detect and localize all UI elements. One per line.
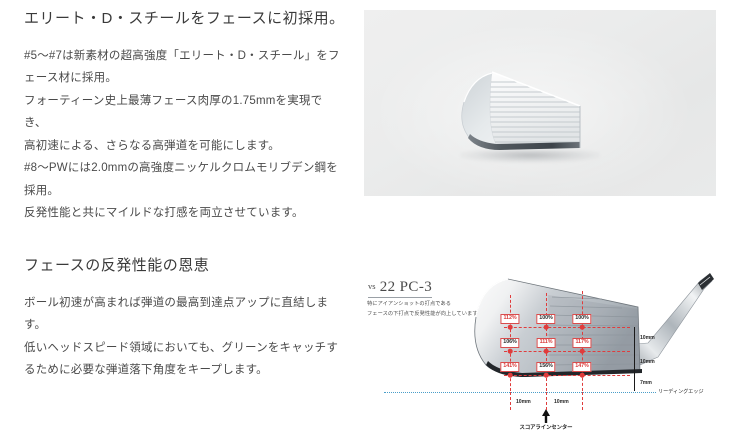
body-line: す。 xyxy=(24,314,344,336)
grid-dot xyxy=(544,373,549,378)
page-title: エリート・D・スチールをフェースに初採用。 xyxy=(24,8,344,29)
grid-hline-bottom xyxy=(504,375,630,376)
grid-dot xyxy=(580,373,585,378)
hdim-tick-center xyxy=(546,392,547,410)
hdim-tick-left xyxy=(510,392,511,410)
grid-dot xyxy=(544,349,549,354)
diagram-title-prefix: vs xyxy=(368,281,376,291)
vdim-arrow-3 xyxy=(634,375,635,391)
section-body-2: ボール初速が高まれば弾道の最高到達点アップに直結しま す。 低いヘッドスピード領… xyxy=(24,292,344,382)
leading-edge-line xyxy=(384,392,656,393)
grid-dot xyxy=(544,325,549,330)
cor-value-r0c2: 100% xyxy=(572,314,591,324)
golf-iron-clubhead-photo xyxy=(456,62,598,158)
body-line: #5〜#7は新素材の超高強度「エリート・D・スチール」をフ xyxy=(24,45,344,67)
grid-hline-top xyxy=(504,327,630,328)
section-face-material: エリート・D・スチールをフェースに初採用。 #5〜#7は新素材の超高強度「エリー… xyxy=(24,8,344,224)
diagram-title: vs 22 PC-3 xyxy=(368,279,432,298)
grid-hline-mid xyxy=(504,351,630,352)
clubhead-photo-panel xyxy=(364,10,716,196)
cor-value-r0c0: 112% xyxy=(500,314,519,324)
body-line: 採用。 xyxy=(24,180,344,202)
body-line: るために必要な弾道落下角度をキープします。 xyxy=(24,359,344,381)
section-heading-2: フェースの反発性能の恩恵 xyxy=(24,255,344,276)
grid-dot xyxy=(580,349,585,354)
body-line: 低いヘッドスピード領域においても、グリーンをキャッチす xyxy=(24,337,344,359)
body-line: ボール初速が高まれば弾道の最高到達点アップに直結しま xyxy=(24,292,344,314)
grid-dot xyxy=(508,349,513,354)
body-line: フォーティーン史上最薄フェース肉厚の1.75mmを実現でき、 xyxy=(24,90,344,135)
diagram-title-model: 22 PC-3 xyxy=(380,279,432,295)
vdim-arrow-2 xyxy=(634,351,635,375)
body-line: #8〜PWには2.0mmの高強度ニッケルクロムモリブデン鋼を xyxy=(24,157,344,179)
hdim-label-right: 10mm xyxy=(554,399,569,405)
hdim-label-left: 10mm xyxy=(516,399,531,405)
section-face-performance: フェースの反発性能の恩恵 ボール初速が高まれば弾道の最高到達点アップに直結しま … xyxy=(24,255,344,382)
grid-dot xyxy=(580,325,585,330)
cor-value-r2c0: 141% xyxy=(500,362,519,372)
hdim-tick-right xyxy=(582,392,583,410)
grid-dot xyxy=(508,325,513,330)
vdim-label-3: 7mm xyxy=(640,380,652,386)
section-body-1: #5〜#7は新素材の超高強度「エリート・D・スチール」をフ ェース材に採用。 フ… xyxy=(24,45,344,224)
scoreline-center-arrow-icon xyxy=(540,409,552,423)
cor-value-r2c1: 156% xyxy=(536,362,555,372)
body-line: 反発性能と共にマイルドな打感を両立させています。 xyxy=(24,202,344,224)
leading-edge-label: リーディングエッジ xyxy=(658,388,703,395)
clubhead-face xyxy=(490,72,580,144)
cor-value-r1c0: 106% xyxy=(500,338,519,348)
grid-dot xyxy=(508,373,513,378)
scoreline-center-label: スコアラインセンター xyxy=(520,423,573,431)
cor-performance-diagram: vs 22 PC-3 特にアイアンショットの打点である フェースの下打点で反発性… xyxy=(364,253,716,431)
body-line: ェース材に採用。 xyxy=(24,67,344,89)
vdim-label-1: 10mm xyxy=(640,335,655,341)
vdim-label-2: 10mm xyxy=(640,359,655,365)
vdim-arrow-1 xyxy=(634,327,635,351)
cor-value-r1c2: 117% xyxy=(572,338,591,348)
cor-value-r2c2: 147% xyxy=(572,362,591,372)
cor-value-r0c1: 100% xyxy=(536,314,555,324)
product-feature-page: エリート・D・スチールをフェースに初採用。 #5〜#7は新素材の超高強度「エリー… xyxy=(0,0,731,441)
body-line: 高初速による、さらなる高弾道を可能にします。 xyxy=(24,135,344,157)
cor-value-r1c1: 111% xyxy=(537,338,556,348)
